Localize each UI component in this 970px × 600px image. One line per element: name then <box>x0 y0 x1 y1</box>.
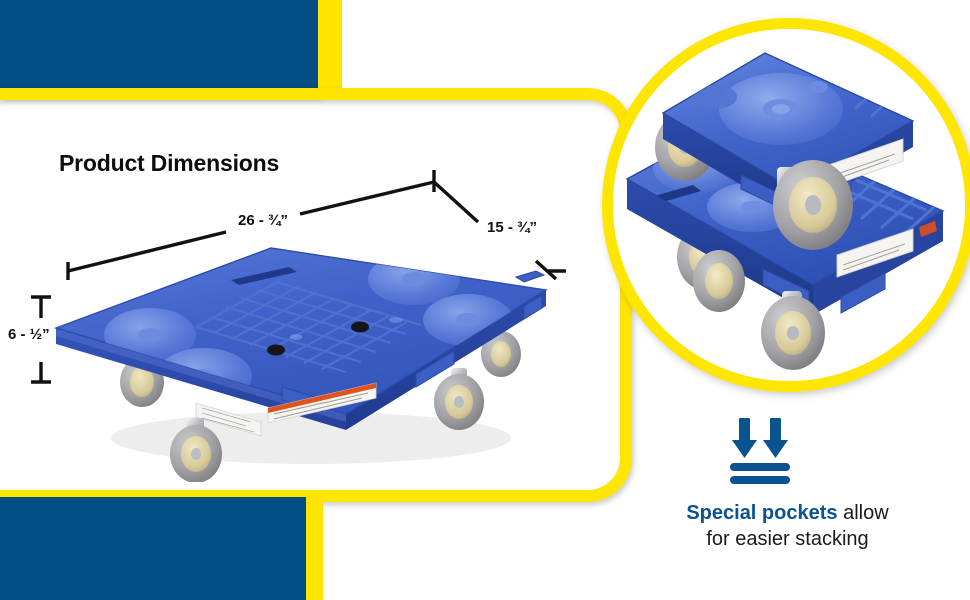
detail-photo-circle <box>602 18 970 392</box>
infographic-root: Product Dimensions 26 - ¾” 15 - ¾” 6 - ½… <box>0 0 970 600</box>
stacking-caption: Special pockets allow for easier stackin… <box>610 500 965 553</box>
bottom-left-blue-block <box>0 497 306 600</box>
caster-nested-middle <box>773 160 853 250</box>
page-title: Product Dimensions <box>59 150 279 177</box>
top-left-blue-block <box>0 0 318 96</box>
dimension-label-width: 15 - ¾” <box>487 219 537 236</box>
caption-highlight: Special pockets <box>686 502 837 524</box>
main-product-photo <box>46 232 586 482</box>
stack-down-arrows-icon <box>722 416 798 486</box>
caption-rest: allow <box>838 502 889 524</box>
top-left-yellow-stripe <box>318 0 342 100</box>
dimension-label-height: 6 - ½” <box>8 326 50 343</box>
dimension-label-length: 26 - ¾” <box>238 212 288 229</box>
caster-front-right <box>434 368 484 430</box>
bottom-left-yellow-stripe <box>306 490 323 600</box>
caster-left-front <box>693 250 745 312</box>
caption-line2: for easier stacking <box>706 528 868 550</box>
